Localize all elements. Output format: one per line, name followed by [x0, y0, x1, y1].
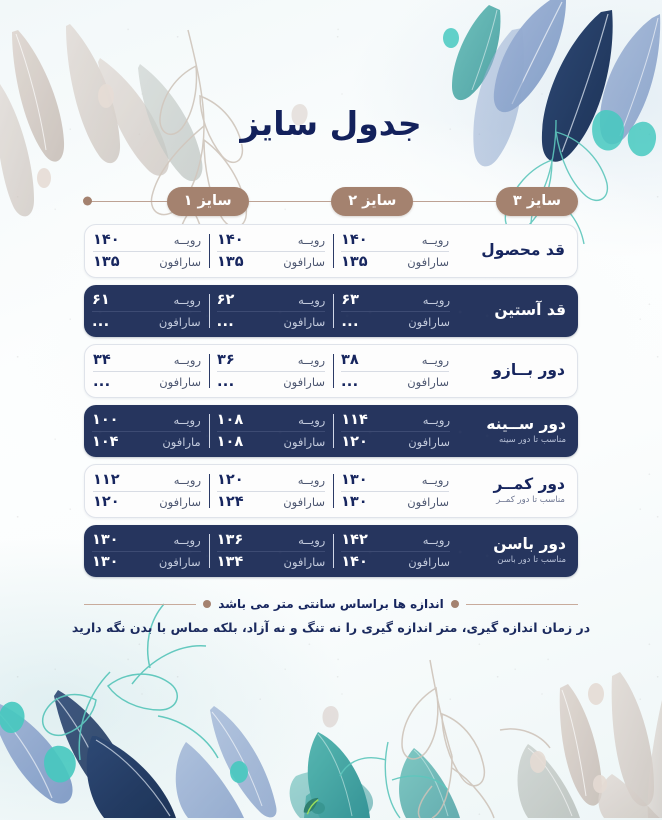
cell-size-3: رویــه ۱۴۲ سارافون ۱۴۰ [333, 525, 458, 577]
cell-size-3: رویــه ۶۳ سارافون ... [333, 285, 458, 337]
cell-kind-top: رویــه [149, 473, 201, 487]
cell-value-top: ۳۶ [217, 352, 265, 368]
cell-kind-top: رویــه [398, 413, 450, 427]
cell-size-2: رویــه ۱۲۰ سارافون ۱۲۴ [209, 465, 333, 517]
cell-value-bottom: ... [217, 314, 266, 330]
row-label-group: دور ســینه مناسب تا دور سینه [458, 405, 578, 457]
cell-value-bottom: ۱۲۴ [217, 494, 265, 510]
cell-line-bottom: سارافون ... [217, 372, 325, 393]
size-pill-1[interactable]: سایز ۱ [167, 187, 249, 216]
row-label: دور بــازو [492, 362, 565, 379]
cell-value-bottom: ۱۳۵ [341, 254, 389, 270]
cell-line-bottom: مارافون ۱۰۴ [92, 432, 201, 453]
note-dot-left [203, 600, 211, 608]
cell-value-top: ۱۳۰ [341, 472, 389, 488]
cell-value-bottom: ... [341, 374, 389, 390]
cell-kind-top: رویــه [397, 473, 449, 487]
cell-line-bottom: سارافون ۱۳۵ [341, 252, 449, 273]
cell-size-3: رویــه ۱۴۰ سارافون ۱۳۵ [333, 225, 457, 277]
cell-value-top: ۱۴۰ [341, 232, 389, 248]
cell-line-top: رویــه ۶۳ [341, 290, 450, 312]
cell-value-bottom: ... [92, 314, 141, 330]
table-row: قد آستین رویــه ۶۳ سارافون ... رویــه ۶۲ [84, 285, 578, 337]
cell-value-top: ۱۱۲ [93, 472, 141, 488]
cell-kind-bottom: سارافون [149, 255, 201, 269]
cell-kind-bottom: سارافون [398, 435, 450, 449]
cell-size-3: رویــه ۱۱۴ سارافون ۱۲۰ [333, 405, 458, 457]
cell-size-3: رویــه ۱۳۰ سارافون ۱۳۰ [333, 465, 457, 517]
page-title: جدول سایز [0, 104, 662, 143]
cell-line-bottom: سارافون ۱۳۵ [93, 252, 201, 273]
cell-kind-bottom: سارافون [149, 375, 201, 389]
cell-value-top: ۶۲ [217, 292, 266, 308]
cell-value-top: ۱۰۸ [217, 412, 266, 428]
cell-size-1: رویــه ۱۴۰ سارافون ۱۳۵ [85, 225, 209, 277]
cell-kind-top: رویــه [149, 533, 201, 547]
cell-line-top: رویــه ۱۱۴ [341, 410, 450, 432]
cell-kind-bottom: مارافون [149, 435, 201, 449]
cell-line-top: رویــه ۱۳۰ [341, 470, 449, 492]
cell-size-2: رویــه ۱۳۶ سارافون ۱۳۴ [209, 525, 334, 577]
row-sublabel: مناسب تا دور باسن [497, 555, 566, 566]
cell-kind-top: رویــه [149, 413, 201, 427]
cell-line-top: رویــه ۱۰۸ [217, 410, 326, 432]
cell-line-top: رویــه ۱۳۶ [217, 530, 326, 552]
cell-value-top: ۱۱۴ [341, 412, 390, 428]
cell-size-2: رویــه ۶۲ سارافون ... [209, 285, 334, 337]
table-row: قد محصول رویــه ۱۴۰ سارافون ۱۳۵ رویــه ۱… [84, 224, 578, 278]
cell-line-bottom: سارافون ۱۲۴ [217, 492, 325, 513]
cell-kind-bottom: سارافون [273, 255, 325, 269]
cell-line-top: رویــه ۳۴ [93, 350, 201, 372]
cell-kind-bottom: سارافون [397, 495, 449, 509]
cell-kind-top: رویــه [397, 233, 449, 247]
row-label: قد آستین [494, 302, 566, 319]
cell-kind-bottom: سارافون [398, 555, 450, 569]
cell-value-top: ۳۴ [93, 352, 141, 368]
cell-kind-bottom: سارافون [273, 555, 325, 569]
cell-value-bottom: ۱۲۰ [93, 494, 141, 510]
row-sublabel: مناسب تا دور سینه [499, 435, 566, 446]
cell-line-bottom: سارافون ۱۳۴ [217, 552, 326, 573]
cell-kind-bottom: سارافون [398, 315, 450, 329]
cell-value-bottom: ۱۳۵ [93, 254, 141, 270]
cell-line-bottom: سارافون ۱۰۸ [217, 432, 326, 453]
cell-line-top: رویــه ۳۶ [217, 350, 325, 372]
note-dot-right [451, 600, 459, 608]
row-label: دور کمــر [493, 476, 565, 493]
unit-note-strip: اندازه ها براساس سانتی متر می باشد [84, 596, 578, 612]
cell-line-top: رویــه ۱۴۰ [93, 230, 201, 252]
cell-size-1: رویــه ۱۱۲ سارافون ۱۲۰ [85, 465, 209, 517]
table-row: دور کمــر مناسب تا دور کمــر رویــه ۱۳۰ … [84, 464, 578, 518]
cell-line-bottom: سارافون ... [92, 312, 201, 333]
cell-kind-top: رویــه [273, 293, 325, 307]
cell-value-top: ۱۳۶ [217, 532, 266, 548]
cell-kind-top: رویــه [398, 293, 450, 307]
cell-line-bottom: سارافون ۱۳۰ [341, 492, 449, 513]
cell-line-top: رویــه ۱۰۰ [92, 410, 201, 432]
note-rail-right [466, 604, 578, 605]
brand-logo-icon [300, 796, 322, 816]
unit-note: اندازه ها براساس سانتی متر می باشد [218, 597, 443, 611]
row-label: دور باسن [493, 536, 566, 553]
table-row: دور ســینه مناسب تا دور سینه رویــه ۱۱۴ … [84, 405, 578, 457]
cell-kind-top: رویــه [149, 233, 201, 247]
cell-value-top: ۱۴۰ [93, 232, 141, 248]
cell-line-bottom: سارافون ... [93, 372, 201, 393]
cell-kind-top: رویــه [273, 533, 325, 547]
cell-value-top: ۱۳۰ [92, 532, 141, 548]
cell-line-top: رویــه ۶۱ [92, 290, 201, 312]
cell-line-top: رویــه ۶۲ [217, 290, 326, 312]
header-rail-3 [413, 201, 496, 202]
cell-kind-top: رویــه [273, 413, 325, 427]
cell-kind-top: رویــه [149, 353, 201, 367]
cell-kind-bottom: سارافون [149, 555, 201, 569]
size-header-strip: سایز ۳ سایز ۲ سایز ۱ [84, 186, 578, 216]
cell-value-top: ۶۱ [92, 292, 141, 308]
cell-line-top: رویــه ۱۴۰ [341, 230, 449, 252]
cell-line-bottom: سارافون ... [341, 312, 450, 333]
cell-line-top: رویــه ۱۴۰ [217, 230, 325, 252]
cell-size-1: رویــه ۳۴ سارافون ... [85, 345, 209, 397]
header-rail-1 [84, 201, 167, 202]
cell-kind-bottom: سارافون [149, 315, 201, 329]
cell-value-bottom: ... [93, 374, 141, 390]
cell-kind-bottom: سارافون [149, 495, 201, 509]
cell-size-2: رویــه ۱۴۰ سارافون ۱۳۵ [209, 225, 333, 277]
cell-line-top: رویــه ۱۴۲ [341, 530, 450, 552]
cell-line-bottom: سارافون ۱۴۰ [341, 552, 450, 573]
cell-value-bottom: ... [217, 374, 265, 390]
row-label-group: دور باسن مناسب تا دور باسن [458, 525, 578, 577]
cell-line-bottom: سارافون ۱۲۰ [93, 492, 201, 513]
size-pill-3[interactable]: سایز ۳ [496, 187, 578, 216]
header-rail-2 [249, 201, 332, 202]
cell-line-top: رویــه ۱۱۲ [93, 470, 201, 492]
row-label: قد محصول [481, 242, 565, 259]
cell-line-top: رویــه ۱۲۰ [217, 470, 325, 492]
cell-kind-top: رویــه [397, 353, 449, 367]
cell-size-1: رویــه ۶۱ سارافون ... [84, 285, 209, 337]
cell-value-top: ۳۸ [341, 352, 389, 368]
cell-size-1: رویــه ۱۳۰ سارافون ۱۳۰ [84, 525, 209, 577]
row-label-group: قد آستین [458, 285, 578, 337]
row-label: دور ســینه [486, 416, 566, 433]
size-table: قد محصول رویــه ۱۴۰ سارافون ۱۳۵ رویــه ۱… [84, 224, 578, 584]
cell-kind-top: رویــه [273, 233, 325, 247]
cell-kind-top: رویــه [273, 353, 325, 367]
cell-line-bottom: سارافون ... [217, 312, 326, 333]
cell-kind-bottom: سارافون [397, 375, 449, 389]
table-row: دور بــازو رویــه ۳۸ سارافون ... رویــه … [84, 344, 578, 398]
measurement-instruction: در زمان اندازه گیری، متر اندازه گیری را … [0, 620, 662, 635]
cell-size-1: رویــه ۱۰۰ مارافون ۱۰۴ [84, 405, 209, 457]
cell-line-top: رویــه ۳۸ [341, 350, 449, 372]
cell-value-bottom: ۱۴۰ [341, 554, 390, 570]
size-chart-page: جدول سایز سایز ۳ سایز ۲ سایز ۱ قد محصول … [0, 0, 662, 820]
cell-value-top: ۱۲۰ [217, 472, 265, 488]
cell-size-2: رویــه ۳۶ سارافون ... [209, 345, 333, 397]
row-label-group: دور بــازو [457, 345, 577, 397]
cell-line-bottom: سارافون ۱۳۰ [92, 552, 201, 573]
cell-value-top: ۱۰۰ [92, 412, 141, 428]
cell-value-bottom: ۱۲۰ [341, 434, 390, 450]
cell-value-bottom: ... [341, 314, 390, 330]
row-sublabel: مناسب تا دور کمــر [496, 495, 565, 506]
cell-kind-bottom: سارافون [273, 495, 325, 509]
cell-kind-bottom: سارافون [273, 315, 325, 329]
cell-value-bottom: ۱۰۴ [92, 434, 141, 450]
row-label-group: دور کمــر مناسب تا دور کمــر [457, 465, 577, 517]
note-rail-left [84, 604, 196, 605]
cell-kind-top: رویــه [149, 293, 201, 307]
cell-kind-bottom: سارافون [397, 255, 449, 269]
cell-kind-top: رویــه [273, 473, 325, 487]
cell-value-bottom: ۱۳۰ [92, 554, 141, 570]
table-row: دور باسن مناسب تا دور باسن رویــه ۱۴۲ سا… [84, 525, 578, 577]
cell-line-bottom: سارافون ۱۳۵ [217, 252, 325, 273]
cell-kind-top: رویــه [398, 533, 450, 547]
cell-value-bottom: ۱۳۰ [341, 494, 389, 510]
cell-line-bottom: سارافون ... [341, 372, 449, 393]
cell-size-3: رویــه ۳۸ سارافون ... [333, 345, 457, 397]
cell-value-bottom: ۱۰۸ [217, 434, 266, 450]
cell-value-top: ۱۴۲ [341, 532, 390, 548]
cell-line-top: رویــه ۱۳۰ [92, 530, 201, 552]
cell-kind-bottom: سارافون [273, 375, 325, 389]
cell-value-bottom: ۱۳۴ [217, 554, 266, 570]
cell-value-top: ۱۴۰ [217, 232, 265, 248]
size-pill-2[interactable]: سایز ۲ [331, 187, 413, 216]
cell-line-bottom: سارافون ۱۲۰ [341, 432, 450, 453]
cell-kind-bottom: سارافون [273, 435, 325, 449]
cell-size-2: رویــه ۱۰۸ سارافون ۱۰۸ [209, 405, 334, 457]
cell-value-top: ۶۳ [341, 292, 390, 308]
row-label-group: قد محصول [457, 225, 577, 277]
cell-value-bottom: ۱۳۵ [217, 254, 265, 270]
